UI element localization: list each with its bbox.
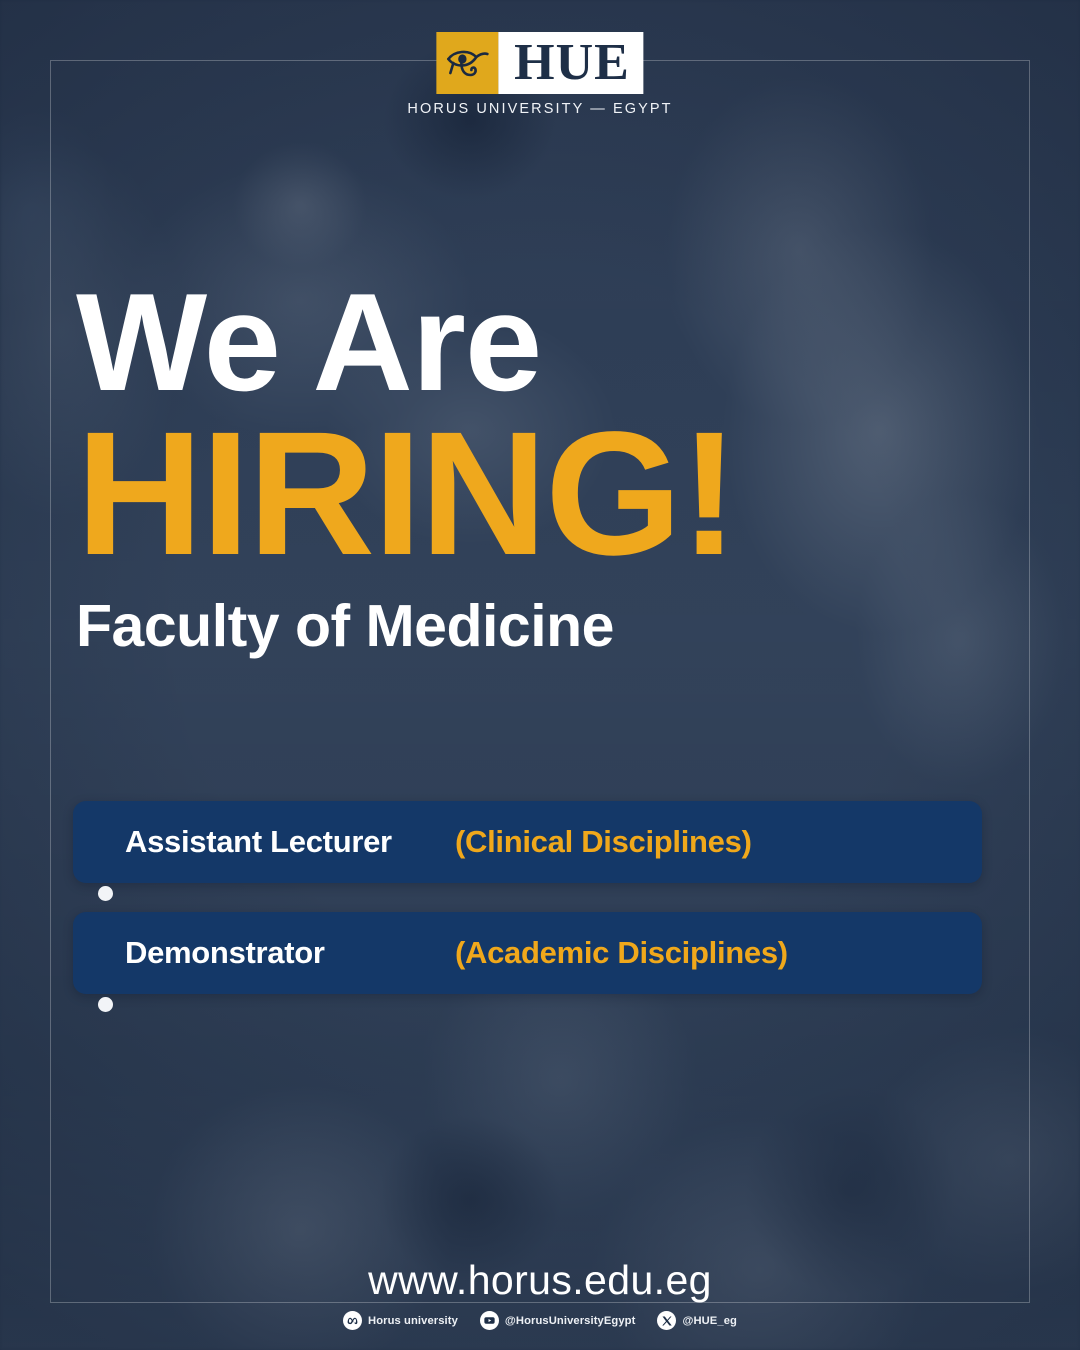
background-vignette <box>0 0 1080 1350</box>
position-item: Assistant Lecturer (Clinical Disciplines… <box>73 801 982 883</box>
social-link-x[interactable]: @HUE_eg <box>657 1311 737 1330</box>
website-url[interactable]: www.horus.edu.eg <box>368 1259 712 1302</box>
social-handle: @HorusUniversityEgypt <box>505 1315 636 1327</box>
meta-icon <box>343 1311 362 1330</box>
headline-line-1: We Are <box>76 278 1006 407</box>
social-handle: @HUE_eg <box>682 1315 737 1327</box>
x-twitter-icon <box>657 1311 676 1330</box>
social-link-youtube[interactable]: @HorusUniversityEgypt <box>480 1311 636 1330</box>
position-title: Assistant Lecturer <box>125 824 455 860</box>
logo-lockup: HUE <box>436 32 644 94</box>
position-bar-demonstrator[interactable]: Demonstrator (Academic Disciplines) <box>73 912 982 994</box>
headline-line-2: HIRING! <box>76 415 1006 573</box>
youtube-icon <box>480 1311 499 1330</box>
footer: www.horus.edu.eg Horus university @H <box>0 1259 1080 1330</box>
eye-of-horus-icon <box>436 32 498 94</box>
social-links: Horus university @HorusUniversityEgypt <box>343 1311 737 1330</box>
hue-logo: HUE HORUS UNIVERSITY — EGYPT <box>407 32 672 117</box>
bullet-dot <box>98 886 113 901</box>
position-item: Demonstrator (Academic Disciplines) <box>73 912 982 994</box>
social-handle: Horus university <box>368 1315 458 1327</box>
headline-subtitle: Faculty of Medicine <box>76 596 1006 658</box>
bullet-dot <box>98 997 113 1012</box>
position-discipline: (Clinical Disciplines) <box>455 824 752 860</box>
headline-block: We Are HIRING! Faculty of Medicine <box>76 278 1006 658</box>
position-discipline: (Academic Disciplines) <box>455 935 788 971</box>
hiring-poster: HUE HORUS UNIVERSITY — EGYPT We Are HIRI… <box>0 0 1080 1350</box>
position-bar-assistant-lecturer[interactable]: Assistant Lecturer (Clinical Disciplines… <box>73 801 982 883</box>
position-title: Demonstrator <box>125 935 455 971</box>
logo-tagline: HORUS UNIVERSITY — EGYPT <box>407 101 672 117</box>
open-positions-list: Assistant Lecturer (Clinical Disciplines… <box>73 801 982 994</box>
logo-wordmark-text: HUE <box>514 37 630 89</box>
social-link-facebook[interactable]: Horus university <box>343 1311 458 1330</box>
logo-wordmark: HUE <box>498 32 644 94</box>
